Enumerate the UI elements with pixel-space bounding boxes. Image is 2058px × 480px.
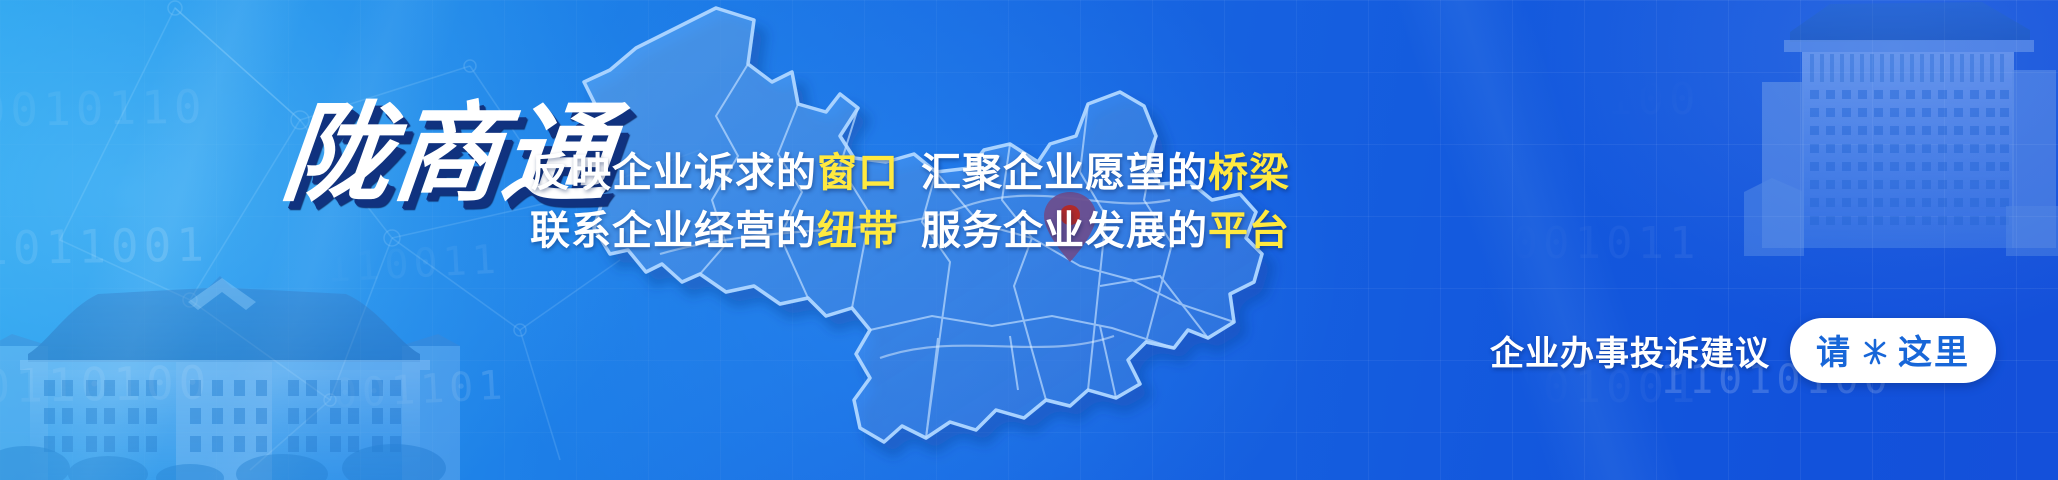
slogan-segment: 反映企业诉求的窗口 [530,140,899,198]
slogan-plain-text: 汇聚企业愿望的 [921,151,1208,195]
slogan-plain-text: 联系企业经营的 [530,209,817,253]
cta-row: 企业办事投诉建议 请 [1490,318,1996,383]
slogan-plain-text: 服务企业发展的 [921,209,1208,253]
cta-button-suffix: 这里 [1898,325,1970,374]
slogan-line-2: 联系企业经营的纽带 服务企业发展的平台 [650,198,1290,256]
cta-button-prefix: 请 [1816,325,1852,374]
cta-label: 企业办事投诉建议 [1490,326,1770,375]
click-starburst-icon [1860,337,1890,367]
slogan-plain-text: 反映企业诉求的 [530,151,817,195]
slogan-segment: 服务企业发展的平台 [921,198,1290,256]
hero-banner: 0010110 1011001 0110100 1001011 0101101 … [0,0,2058,480]
slogan-block: 反映企业诉求的窗口 汇聚企业愿望的桥梁 联系企业经营的纽带 服务企业发展的平台 [650,140,1290,256]
slogan-highlight-text: 窗口 [817,151,899,195]
slogan-segment: 联系企业经营的纽带 [530,198,899,256]
click-here-button[interactable]: 请 这里 [1790,318,1996,383]
slogan-segment: 汇聚企业愿望的桥梁 [921,140,1290,198]
slogan-line-1: 反映企业诉求的窗口 汇聚企业愿望的桥梁 [650,140,1290,198]
banner-content: 陇商通 反映企业诉求的窗口 汇聚企业愿望的桥梁 联系企业经营的纽带 服务企业发展… [0,0,2058,480]
slogan-highlight-text: 桥梁 [1208,151,1290,195]
slogan-highlight-text: 平台 [1208,209,1290,253]
slogan-highlight-text: 纽带 [817,209,899,253]
